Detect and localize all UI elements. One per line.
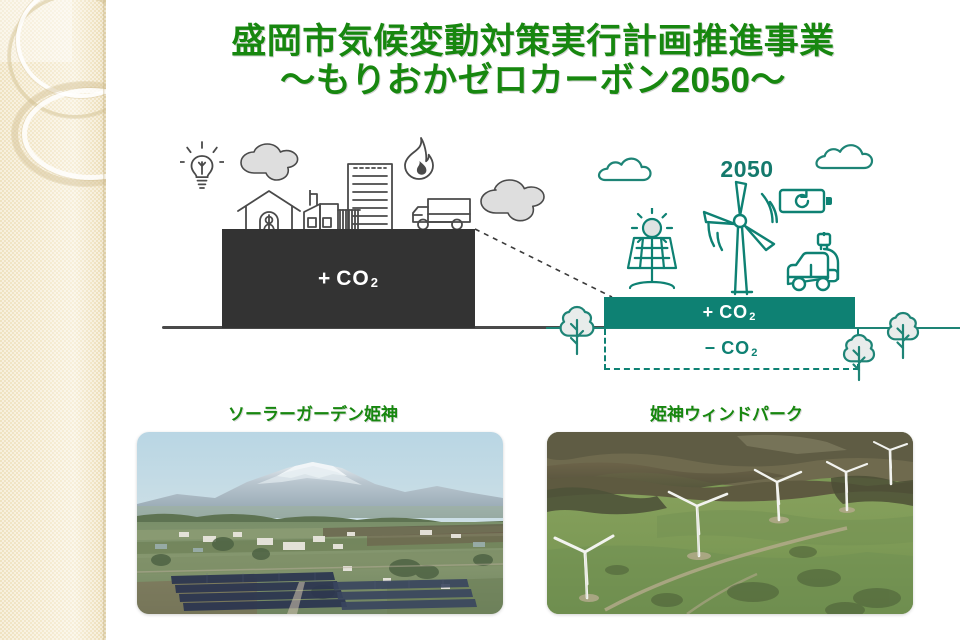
lightbulb-icon <box>180 140 224 197</box>
future-negative-co2-label: −CO2 <box>705 338 759 359</box>
electric-car-icon <box>784 232 860 301</box>
title-line-2: ～もりおかゼロカーボン2050～ <box>106 61 960 100</box>
future-minus-subscript: 2 <box>751 347 758 359</box>
future-plus-subscript: 2 <box>749 311 756 323</box>
future-negative-co2-block: −CO2 <box>604 329 859 370</box>
future-positive-co2-label: +CO2 <box>703 302 757 323</box>
present-co2-block: +CO2 <box>222 229 475 328</box>
future-positive-co2-block: +CO2 <box>604 297 855 328</box>
carbon-neutral-infographic: +CO2 2050 <box>106 128 960 390</box>
future-plus-sign: + <box>703 302 715 322</box>
wind-turbine-icon <box>690 180 790 303</box>
tree-icon <box>882 310 924 365</box>
himekami-wind-park-photo <box>547 432 913 614</box>
flame-icon <box>399 135 439 186</box>
caption-wind-park: 姫神ウィンドパーク <box>650 400 803 425</box>
caption-solar-garden: ソーラーガーデン姫神 <box>228 400 398 425</box>
slide: 盛岡市気候変動対策実行計画推進事業 ～もりおかゼロカーボン2050～ <box>0 0 960 640</box>
decorative-sidebar <box>0 0 106 640</box>
cloud-icon <box>596 156 652 187</box>
present-co2-subscript: 2 <box>371 275 379 290</box>
title-line-1: 盛岡市気候変動対策実行計画推進事業 <box>106 22 960 61</box>
future-plus-text: CO <box>719 302 748 322</box>
rechargeable-battery-icon <box>778 185 834 222</box>
future-minus-sign: − <box>705 338 717 358</box>
year-label-2050: 2050 <box>692 156 802 183</box>
tree-icon <box>838 332 880 387</box>
future-minus-text: CO <box>721 338 750 358</box>
office-building-icon <box>344 156 396 237</box>
present-co2-label: +CO2 <box>318 267 379 291</box>
solar-panel-icon <box>620 208 684 303</box>
tree-icon <box>554 304 600 361</box>
solar-garden-himekami-photo <box>137 432 503 614</box>
present-co2-sign: + <box>318 267 331 290</box>
slide-title: 盛岡市気候変動対策実行計画推進事業 ～もりおかゼロカーボン2050～ <box>106 22 960 100</box>
smoke-cloud-icon <box>238 138 314 191</box>
cloud-icon <box>812 142 874 175</box>
present-co2-text: CO <box>336 267 370 290</box>
perspective-connector-lines <box>466 218 626 323</box>
